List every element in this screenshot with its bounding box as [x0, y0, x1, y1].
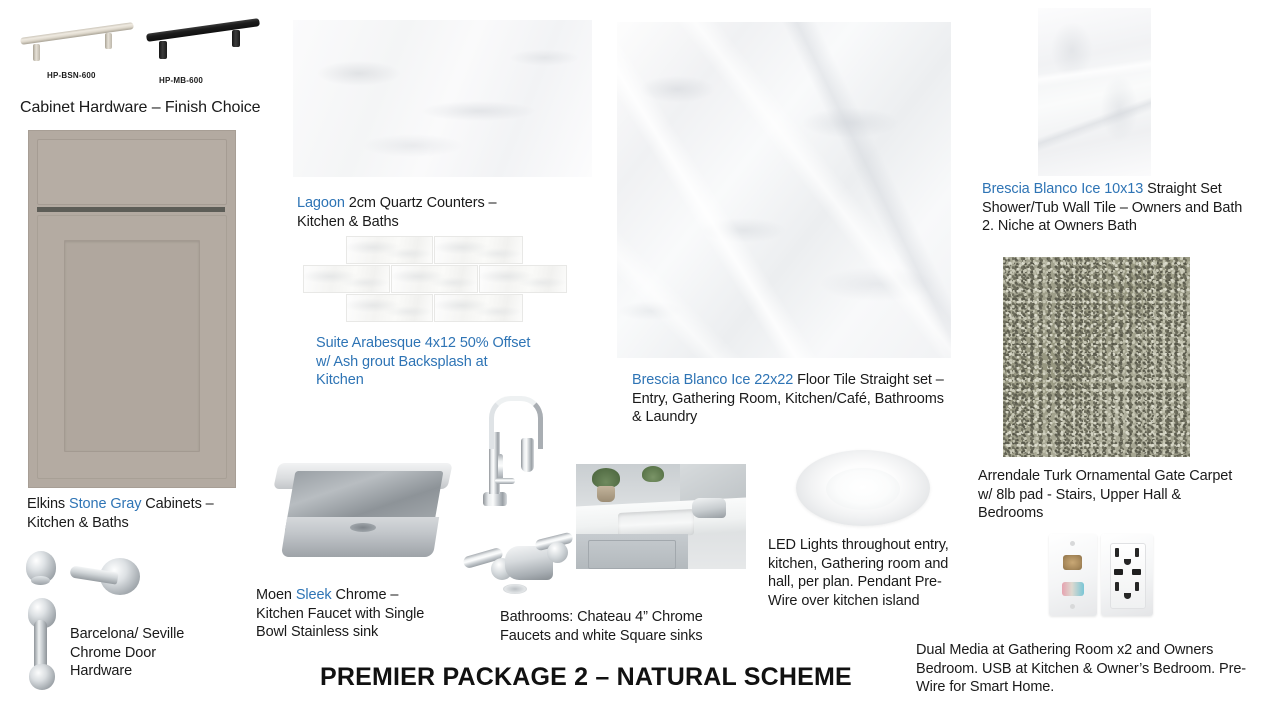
- kitchen-sink-caption-line3: Bowl Stainless sink: [256, 624, 378, 640]
- usb-port-left: [1114, 569, 1123, 575]
- door-knob-rose: [31, 576, 50, 585]
- cabinets-caption-pre: Elkins: [27, 496, 69, 512]
- pull-post-left-satin-nickel: [33, 44, 40, 61]
- door-hardware-caption-line2: Chrome Door: [70, 645, 156, 661]
- cabinet-hardware-caption: Cabinet Hardware – Finish Choice: [20, 99, 260, 118]
- cabinet-pull-satin-nickel: [14, 18, 139, 70]
- carpet-caption-line2: w/ 8lb pad - Stairs, Upper Hall &: [978, 487, 1181, 503]
- lighting-caption: LED Lights throughout entry, kitchen, Ga…: [768, 536, 968, 610]
- door-hardware-caption-line1: Barcelona/ Seville: [70, 626, 184, 642]
- media-plate-screw-bottom: [1070, 604, 1075, 609]
- backsplash-tile: [434, 236, 523, 264]
- electrical-caption-line3: Wire for Smart Home.: [916, 679, 1054, 695]
- electrical-caption-line2: Bedroom. USB at Kitchen & Owner’s Bedroo…: [916, 661, 1246, 677]
- pull-label-satin-nickel: HP-BSN-600: [47, 71, 96, 80]
- wall-tile-caption-post: Straight Set: [1143, 181, 1222, 197]
- kitchen-sink-caption: Moen Sleek Chrome – Kitchen Faucet with …: [256, 586, 471, 642]
- cabinets-caption-line2: Kitchen & Baths: [27, 515, 129, 531]
- door-handleset-bottom: [29, 664, 55, 690]
- kitchen-sink-caption-post: Chrome –: [332, 587, 399, 603]
- lighting-caption-line1: LED Lights throughout entry,: [768, 537, 949, 553]
- pull-bar-matte-black: [146, 18, 260, 42]
- cabinets-caption-accent: Stone Gray: [69, 496, 141, 512]
- board-title: PREMIER PACKAGE 2 – NATURAL SCHEME: [320, 663, 852, 692]
- faucet-base: [483, 492, 507, 506]
- backsplash-caption: Suite Arabesque 4x12 50% Offset w/ Ash g…: [316, 334, 566, 390]
- lighting-caption-line3: hall, per plan. Pendant Pre-: [768, 574, 942, 590]
- media-plate-screw-top: [1070, 541, 1075, 546]
- electrical-caption-line1: Dual Media at Gathering Room x2 and Owne…: [916, 642, 1213, 658]
- counters-caption-post: 2cm Quartz Counters –: [345, 195, 497, 211]
- floor-tile-caption-accent: Brescia Blanco Ice 22x22: [632, 372, 793, 388]
- receptacle-slot-left-bottom: [1115, 582, 1119, 591]
- receptacle-slot-right-bottom: [1135, 582, 1139, 591]
- carpet-caption-line3: Bedrooms: [978, 505, 1043, 521]
- kitchen-sink-caption-accent: Sleek: [296, 587, 332, 603]
- kitchen-sink-caption-pre: Moen: [256, 587, 296, 603]
- electrical-caption: Dual Media at Gathering Room x2 and Owne…: [916, 641, 1266, 697]
- counters-caption: Lagoon 2cm Quartz Counters – Kitchen & B…: [297, 194, 577, 231]
- wall-tile-caption-line3: 2. Niche at Owners Bath: [982, 218, 1137, 234]
- coax-jack-icon: [1063, 555, 1082, 570]
- lighting-caption-line4: Wire over kitchen island: [768, 593, 920, 609]
- bath-faucet-handle-right-base: [547, 542, 568, 563]
- pull-bar-satin-nickel: [20, 22, 134, 45]
- backsplash-tile: [434, 294, 523, 322]
- door-hardware-caption-line3: Hardware: [70, 663, 132, 679]
- counters-caption-accent: Lagoon: [297, 195, 345, 211]
- backsplash-tile: [346, 294, 433, 322]
- cable-jack-icon: [1062, 582, 1084, 596]
- vanity-cabinet-panel: [588, 540, 676, 569]
- backsplash-tile: [303, 265, 390, 293]
- faucet-handle: [498, 454, 503, 480]
- bath-faucet-caption: Bathrooms: Chateau 4” Chrome Faucets and…: [500, 608, 740, 645]
- quartz-counter-swatch: [293, 20, 592, 177]
- lighting-caption-line2: kitchen, Gathering room and: [768, 556, 948, 572]
- cabinet-door-sample: [28, 130, 236, 488]
- carpet-caption: Arrendale Turk Ornamental Gate Carpet w/…: [978, 467, 1258, 523]
- pull-post-right-satin-nickel: [105, 33, 112, 49]
- cabinets-caption-post: Cabinets –: [141, 496, 213, 512]
- bath-faucet-drain-ring: [503, 584, 527, 594]
- backsplash-tile: [346, 236, 433, 264]
- backsplash-tile: [391, 265, 478, 293]
- backsplash-caption-line1: Suite Arabesque 4x12 50% Offset: [316, 335, 530, 351]
- cabinet-pull-matte-black: [140, 14, 265, 66]
- pull-post-right-matte-black: [232, 30, 240, 47]
- vanity-faucet: [692, 498, 726, 518]
- backsplash-caption-line2: w/ Ash grout Backsplash at: [316, 354, 488, 370]
- receptacle-slot-right-top: [1135, 548, 1139, 557]
- counters-caption-line2: Kitchen & Baths: [297, 214, 399, 230]
- cabinet-reveal-line: [37, 207, 225, 212]
- receptacle-slot-left-top: [1115, 548, 1119, 557]
- cabinets-caption: Elkins Stone Gray Cabinets – Kitchen & B…: [27, 495, 257, 532]
- bath-faucet-caption-line1: Bathrooms: Chateau 4” Chrome: [500, 609, 703, 625]
- carpet-swatch: [1003, 257, 1190, 457]
- wall-tile-swatch: [1038, 8, 1151, 176]
- carpet-caption-line1: Arrendale Turk Ornamental Gate Carpet: [978, 468, 1232, 484]
- sink-drain: [350, 523, 376, 532]
- cabinet-door-panel: [64, 240, 200, 452]
- floor-tile-swatch: [617, 22, 951, 358]
- cabinet-door-frame: [37, 215, 227, 479]
- pull-post-left-matte-black: [159, 41, 167, 59]
- faucet-spray-head: [521, 438, 534, 472]
- floor-tile-caption-line3: & Laundry: [632, 409, 697, 425]
- wall-tile-caption-accent: Brescia Blanco Ice 10x13: [982, 181, 1143, 197]
- kitchen-faucet: [465, 392, 540, 514]
- vanity-plant-left: [592, 468, 620, 488]
- usb-outlet-plate: [1101, 534, 1153, 616]
- faucet-goose-neck: [489, 396, 543, 449]
- kitchen-sink: [276, 455, 450, 565]
- bath-faucet: [463, 534, 575, 596]
- pull-label-matte-black: HP-MB-600: [159, 76, 203, 85]
- door-hardware-caption: Barcelona/ Seville Chrome Door Hardware: [70, 625, 200, 681]
- wall-tile-caption: Brescia Blanco Ice 10x13 Straight Set Sh…: [982, 180, 1269, 236]
- led-light-lens: [826, 468, 900, 510]
- floor-tile-caption: Brescia Blanco Ice 22x22 Floor Tile Stra…: [632, 371, 972, 427]
- bath-faucet-spout: [505, 546, 553, 580]
- faucet-handle-lever: [495, 478, 515, 484]
- vanity-plant-left-pot: [597, 486, 615, 502]
- usb-port-right: [1132, 569, 1141, 575]
- floor-tile-caption-post: Floor Tile Straight set –: [793, 372, 944, 388]
- floor-tile-caption-line2: Entry, Gathering Room, Kitchen/Café, Bat…: [632, 391, 944, 407]
- backsplash-caption-line3: Kitchen: [316, 372, 364, 388]
- wall-tile-caption-line2: Shower/Tub Wall Tile – Owners and Bath: [982, 200, 1242, 216]
- backsplash-tile: [479, 265, 567, 293]
- backsplash-tile-pattern: [303, 236, 565, 321]
- media-wall-plate: [1049, 534, 1097, 616]
- vanity-mirror: [680, 464, 746, 502]
- bath-faucet-caption-line2: Faucets and white Square sinks: [500, 628, 703, 644]
- vanity-plant-right: [642, 466, 664, 482]
- kitchen-sink-caption-line2: Kitchen Faucet with Single: [256, 606, 424, 622]
- cabinet-drawer-front: [37, 139, 227, 205]
- bath-vanity-photo: [576, 464, 746, 569]
